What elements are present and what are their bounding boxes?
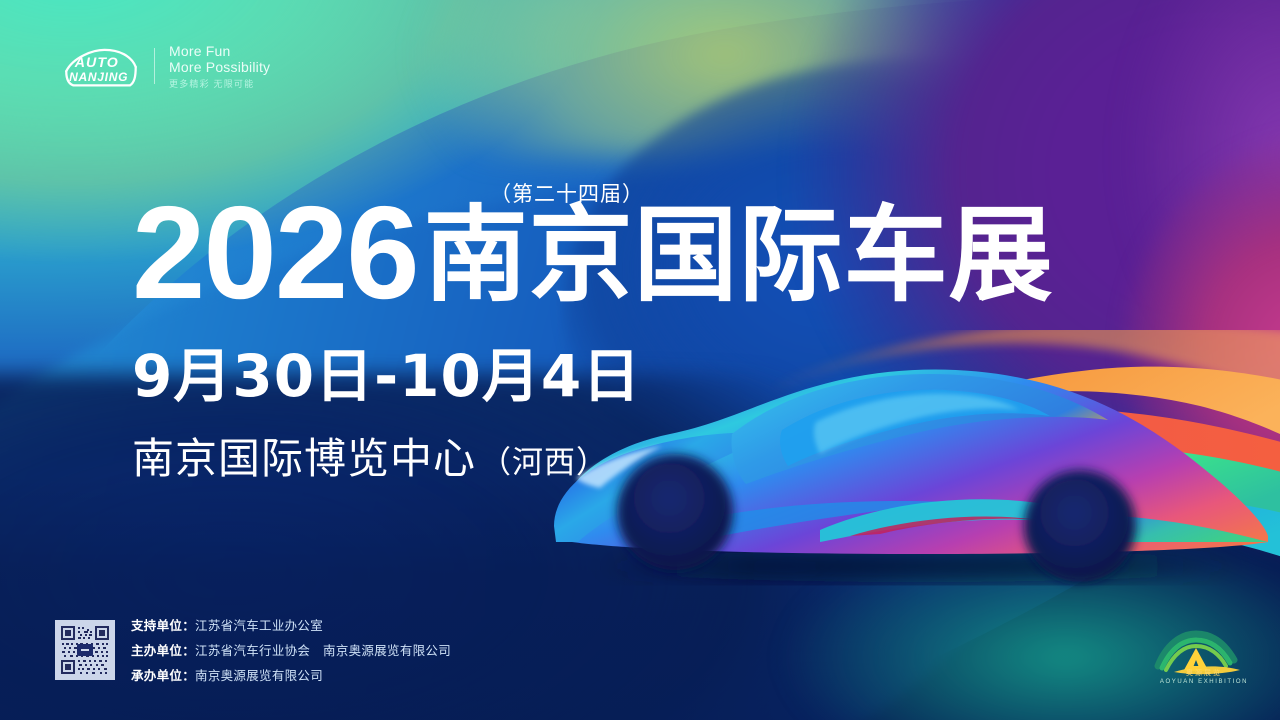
venue-district: （河西）	[480, 437, 608, 482]
credit-value: 江苏省汽车工业办公室	[195, 618, 323, 633]
credit-value: 南京奥源展览有限公司	[195, 668, 323, 683]
tagline-line-1: More Fun	[169, 43, 270, 60]
title-row: 2026 南京国际车展	[132, 192, 1112, 313]
sponsor-name-block: 奥源展览 AOYUAN EXHIBITION	[1152, 670, 1256, 686]
tagline-line-2: More Possibility	[169, 59, 270, 76]
event-venue: 南京国际博览中心 （河西）	[132, 425, 1112, 486]
event-dates: 9月30日-10月4日	[132, 329, 1112, 413]
main-copy: （第二十四届） 2026 南京国际车展 9月30日-10月4日 南京国际博览中心…	[132, 170, 1112, 486]
tagline-chinese: 更多精彩 无限可能	[169, 79, 270, 90]
credit-label: 承办单位：	[131, 668, 195, 683]
brand-header: AUTO NANJING More Fun More Possibility 更…	[62, 40, 270, 92]
auto-nanjing-logo-icon: AUTO NANJING	[62, 40, 140, 92]
credit-value: 江苏省汽车行业协会 南京奥源展览有限公司	[195, 643, 451, 658]
header-divider	[154, 48, 155, 84]
brand-tagline: More Fun More Possibility 更多精彩 无限可能	[169, 43, 270, 90]
auto-show-poster: AUTO NANJING More Fun More Possibility 更…	[0, 0, 1280, 720]
venue-name: 南京国际博览中心	[132, 425, 476, 486]
credit-line: 承办单位：南京奥源展览有限公司	[131, 665, 451, 684]
credits-block: 支持单位：江苏省汽车工业办公室 主办单位：江苏省汽车行业协会 南京奥源展览有限公…	[131, 615, 451, 684]
credit-line: 主办单位：江苏省汽车行业协会 南京奥源展览有限公司	[131, 640, 451, 659]
svg-text:AUTO: AUTO	[74, 55, 119, 71]
year-number: 2026	[132, 192, 418, 313]
edition-label: （第二十四届）	[490, 178, 644, 208]
qr-code-icon[interactable]	[55, 620, 115, 680]
credit-label: 支持单位：	[131, 618, 195, 633]
sponsor-name-en: AOYUAN EXHIBITION	[1152, 679, 1256, 687]
footer: 支持单位：江苏省汽车工业办公室 主办单位：江苏省汽车行业协会 南京奥源展览有限公…	[55, 615, 451, 684]
page-title: 南京国际车展	[424, 203, 1054, 307]
credit-line: 支持单位：江苏省汽车工业办公室	[131, 615, 451, 634]
sponsor-name-cn: 奥源展览	[1152, 670, 1256, 679]
qr-center-logo-icon	[77, 644, 93, 656]
credit-label: 主办单位：	[131, 643, 195, 658]
aoyuan-exhibition-logo-icon: 奥源展览 AOYUAN EXHIBITION	[1144, 626, 1256, 688]
svg-text:NANJING: NANJING	[69, 70, 128, 84]
